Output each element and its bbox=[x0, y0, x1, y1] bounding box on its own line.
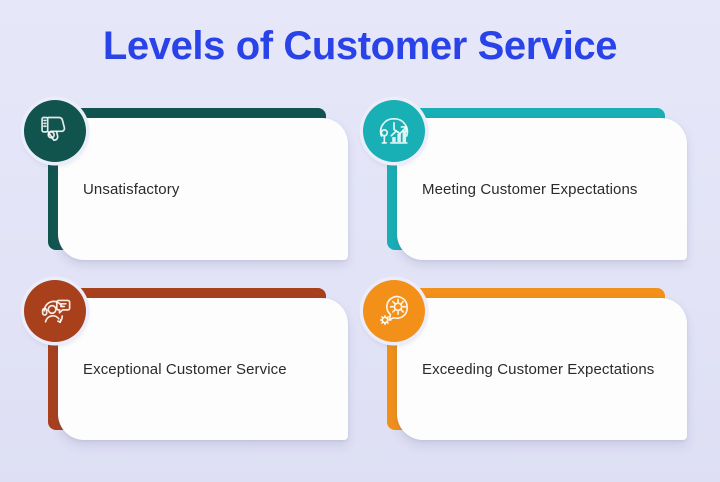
page-title: Levels of Customer Service bbox=[0, 22, 720, 70]
level-card-meeting-expectations[interactable]: Meeting Customer Expectations bbox=[361, 100, 700, 280]
card-surface: Exceeding Customer Expectations bbox=[397, 298, 687, 440]
infographic-canvas: Levels of Customer Service Unsatisfactor… bbox=[0, 0, 720, 482]
card-label: Exceeding Customer Expectations bbox=[422, 298, 667, 440]
card-icon-badge[interactable] bbox=[24, 280, 86, 342]
level-card-exceptional-service[interactable]: Exceptional Customer Service bbox=[22, 280, 361, 460]
card-icon-badge[interactable] bbox=[363, 100, 425, 162]
card-label: Meeting Customer Expectations bbox=[422, 118, 667, 260]
clock-bar-chart-icon bbox=[376, 113, 412, 149]
card-label: Exceptional Customer Service bbox=[83, 298, 328, 440]
level-card-unsatisfactory[interactable]: Unsatisfactory bbox=[22, 100, 361, 280]
card-surface: Meeting Customer Expectations bbox=[397, 118, 687, 260]
card-icon-badge[interactable] bbox=[363, 280, 425, 342]
idea-lightbulb-gear-icon bbox=[376, 293, 412, 329]
card-label: Unsatisfactory bbox=[83, 118, 328, 260]
card-icon-badge[interactable] bbox=[24, 100, 86, 162]
thumbs-down-icon bbox=[37, 113, 73, 149]
title-container: Levels of Customer Service bbox=[0, 22, 720, 70]
level-card-exceeding-expectations[interactable]: Exceeding Customer Expectations bbox=[361, 280, 700, 460]
support-agent-headset-icon bbox=[37, 293, 73, 329]
levels-grid: Unsatisfactory Meeting Customer Expe bbox=[22, 100, 700, 460]
card-surface: Unsatisfactory bbox=[58, 118, 348, 260]
card-surface: Exceptional Customer Service bbox=[58, 298, 348, 440]
